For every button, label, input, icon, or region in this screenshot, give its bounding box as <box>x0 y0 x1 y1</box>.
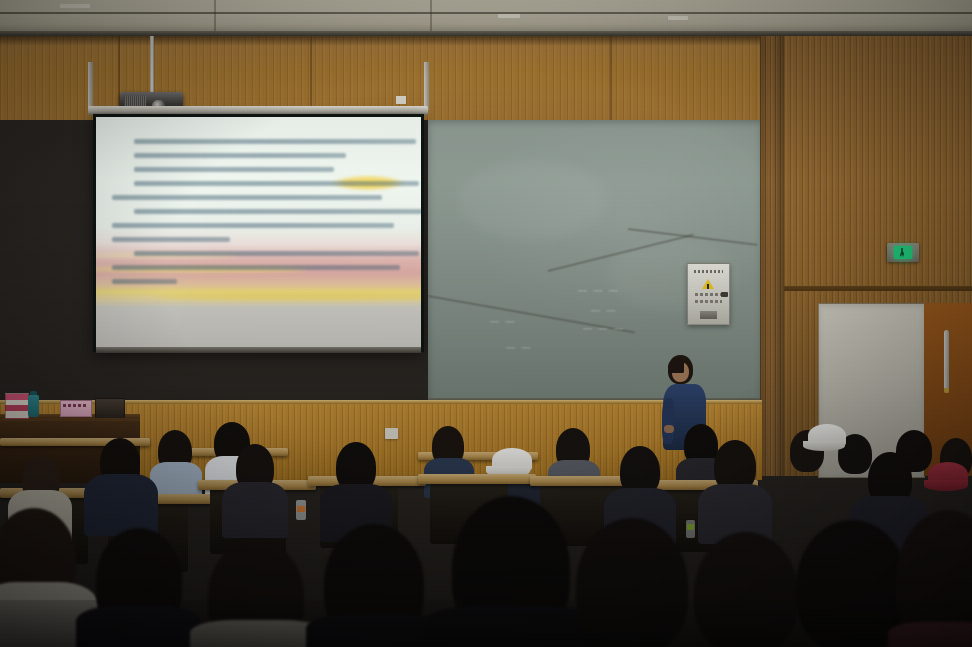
ceiling-panel-line <box>430 0 432 34</box>
cap-brim-icon <box>924 480 968 491</box>
foreground-shadow <box>0 600 972 647</box>
screen-surface <box>96 117 421 347</box>
slide-text-line <box>112 237 230 242</box>
board-smudge <box>458 160 608 240</box>
chalk-writing: — — <box>506 342 533 352</box>
tablet-desk <box>418 474 536 484</box>
slide-text-line <box>112 223 394 228</box>
audience-area <box>0 400 972 647</box>
student-body <box>222 482 288 538</box>
wall-panel-seam <box>610 36 612 120</box>
panel-text-row <box>695 293 722 296</box>
ceiling-vent <box>498 14 520 18</box>
bottle-label-icon <box>297 506 305 512</box>
projector-mount-pole <box>150 36 154 98</box>
chalk-writing: — — <box>490 316 517 326</box>
exit-sign-face <box>894 246 912 259</box>
slide-text-line <box>112 279 177 284</box>
screen-housing-plate <box>396 96 406 104</box>
ceiling <box>0 0 972 34</box>
ceiling-vent <box>668 16 688 20</box>
door-handle[interactable] <box>944 330 949 390</box>
panel-switch[interactable] <box>721 292 728 297</box>
panel-outlet[interactable] <box>700 311 717 319</box>
slide-text-line <box>134 167 334 172</box>
slide-text-line <box>134 209 421 214</box>
lecture-hall-photo: — — — — — — — — — — — — <box>0 0 972 647</box>
slide-text-line <box>134 181 419 186</box>
screen-bracket-left <box>88 62 93 110</box>
presenter-hair-top <box>668 358 684 373</box>
panel-text-row <box>695 300 722 303</box>
right-wall-trim <box>784 286 972 291</box>
ceiling-seam <box>0 12 972 14</box>
slide-text-line <box>134 153 346 158</box>
panel-label-strip <box>694 270 723 273</box>
projection-screen <box>93 114 424 352</box>
ceiling-vent <box>60 4 90 8</box>
screen-bracket-right <box>424 62 429 110</box>
exit-sign <box>887 243 919 262</box>
electrical-control-panel[interactable] <box>687 263 730 325</box>
slide-text-line <box>134 139 416 144</box>
bottle-label-icon <box>687 524 694 530</box>
ceiling-panel-line <box>214 0 216 34</box>
chalkboard: — — — — — — — — — — — — <box>428 120 762 403</box>
door-lock-icon <box>944 388 949 393</box>
slide-text-line <box>112 265 400 270</box>
chalk-writing: — — <box>591 305 618 315</box>
slide-text-line <box>134 251 419 256</box>
student-body <box>84 474 158 536</box>
projector-vent <box>124 96 146 106</box>
slide-text-block <box>112 139 406 293</box>
screen-weight-bar <box>96 347 421 353</box>
running-person-icon <box>900 248 904 257</box>
warning-bolt-mark <box>707 284 709 289</box>
cap-brim-icon <box>803 441 845 451</box>
chalk-writing: — — — <box>583 323 625 333</box>
chalk-writing: — — — <box>578 285 620 295</box>
slide-text-line <box>112 195 382 200</box>
